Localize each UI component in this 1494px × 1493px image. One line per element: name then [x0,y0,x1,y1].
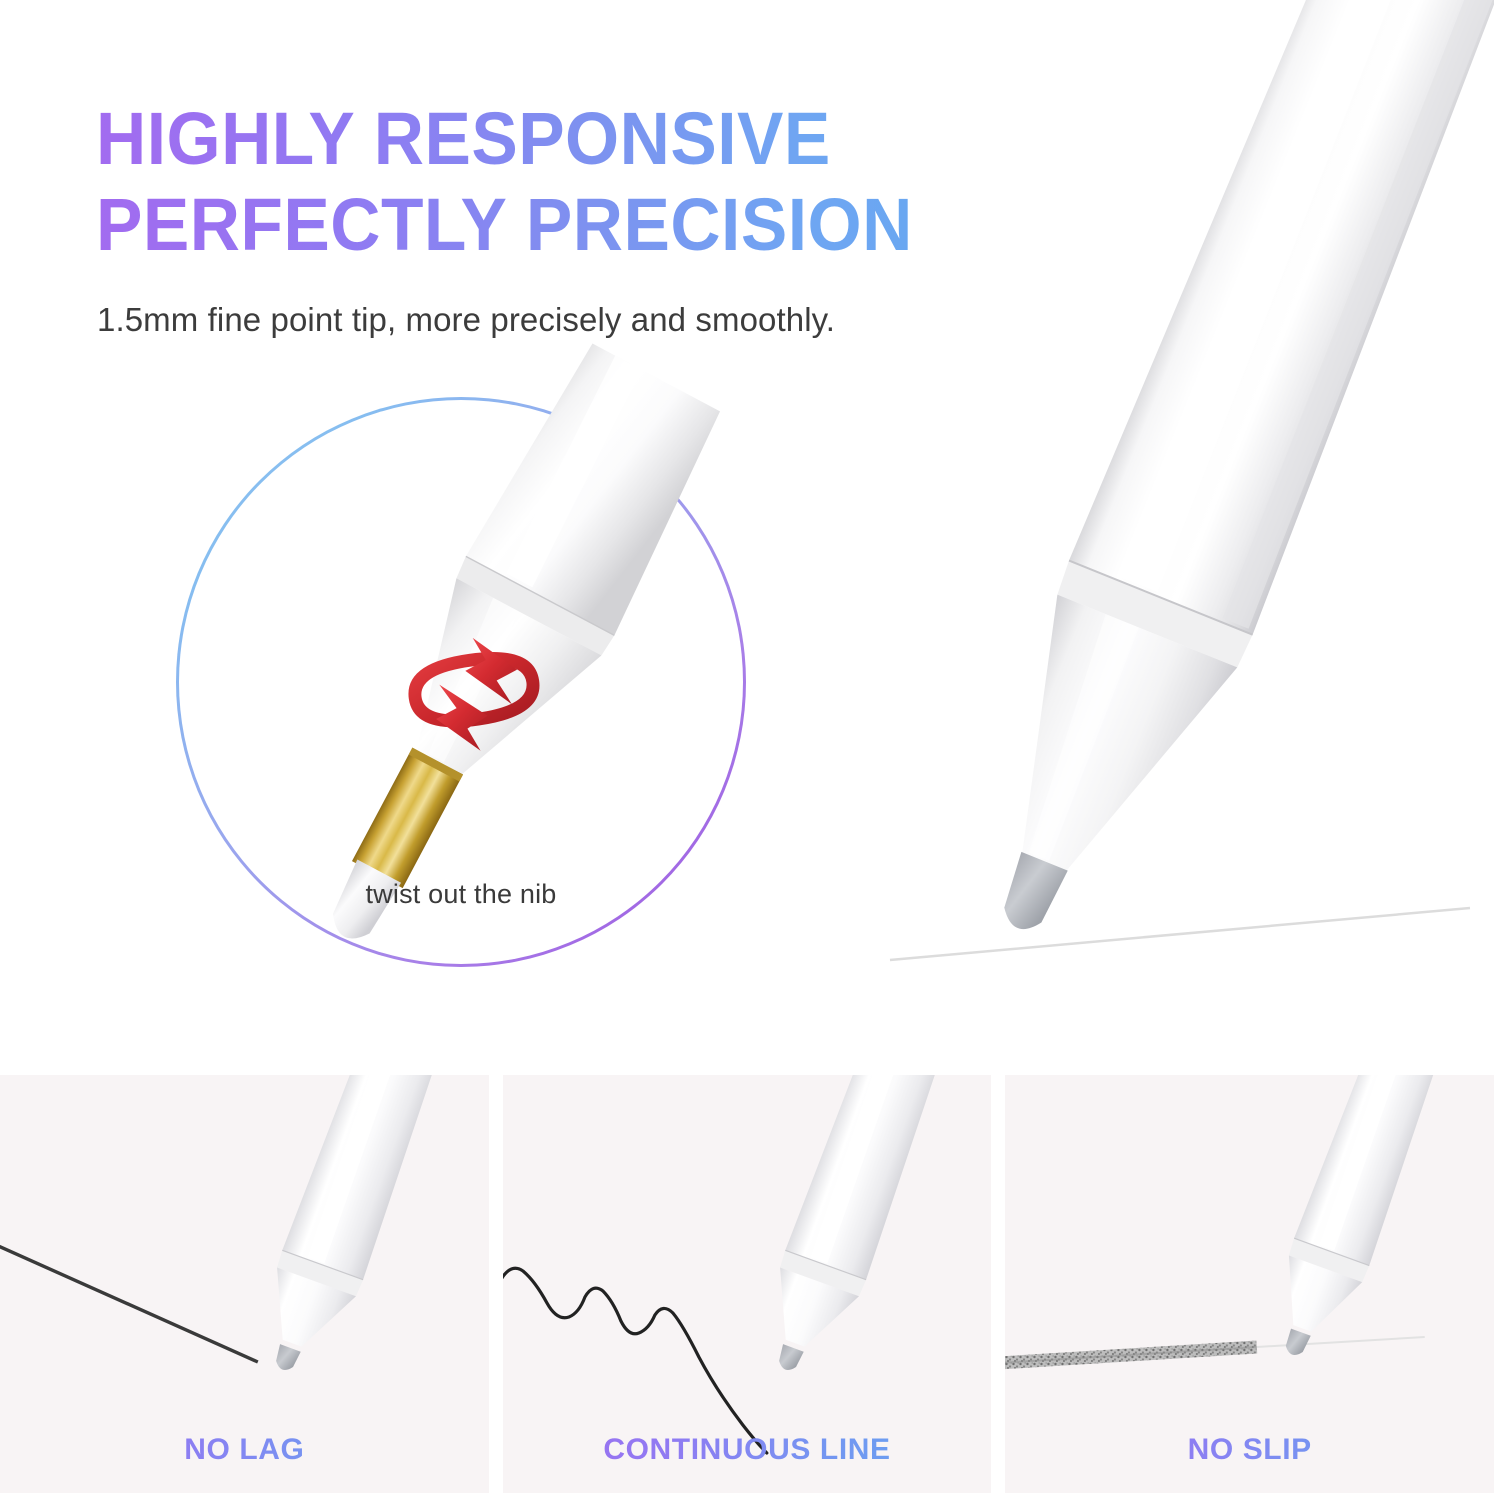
surface-line [1257,1337,1425,1347]
continuous-line-illustration [503,1075,992,1493]
product-feature-page: HIGHLY RESPONSIVE PERFECTLY PRECISION 1.… [0,0,1494,1493]
nib-detail-circle: twist out the nib [176,397,746,967]
panel-no-slip[interactable]: NO SLIP [1005,1075,1494,1493]
panel-no-lag[interactable]: NO LAG [0,1075,489,1493]
panel-label-no-lag: NO LAG [0,1433,489,1467]
hero-surface-line [890,908,1470,960]
subtitle-text: 1.5mm fine point tip, more precisely and… [97,300,835,340]
panel-label-continuous-line: CONTINUOUS LINE [503,1433,992,1467]
panel-continuous-line[interactable]: CONTINUOUS LINE [503,1075,992,1493]
wavy-line-stroke [503,1268,767,1453]
nib-caption: twist out the nib [179,879,743,910]
straight-line-stroke [0,1245,258,1362]
no-lag-illustration [0,1075,489,1493]
no-slip-illustration [1005,1075,1494,1493]
hero-stylus-image [770,0,1494,990]
hero-stylus-illustration [770,0,1494,990]
panel-label-no-slip: NO SLIP [1005,1433,1494,1467]
feature-panels: NO LAG [0,1075,1494,1493]
